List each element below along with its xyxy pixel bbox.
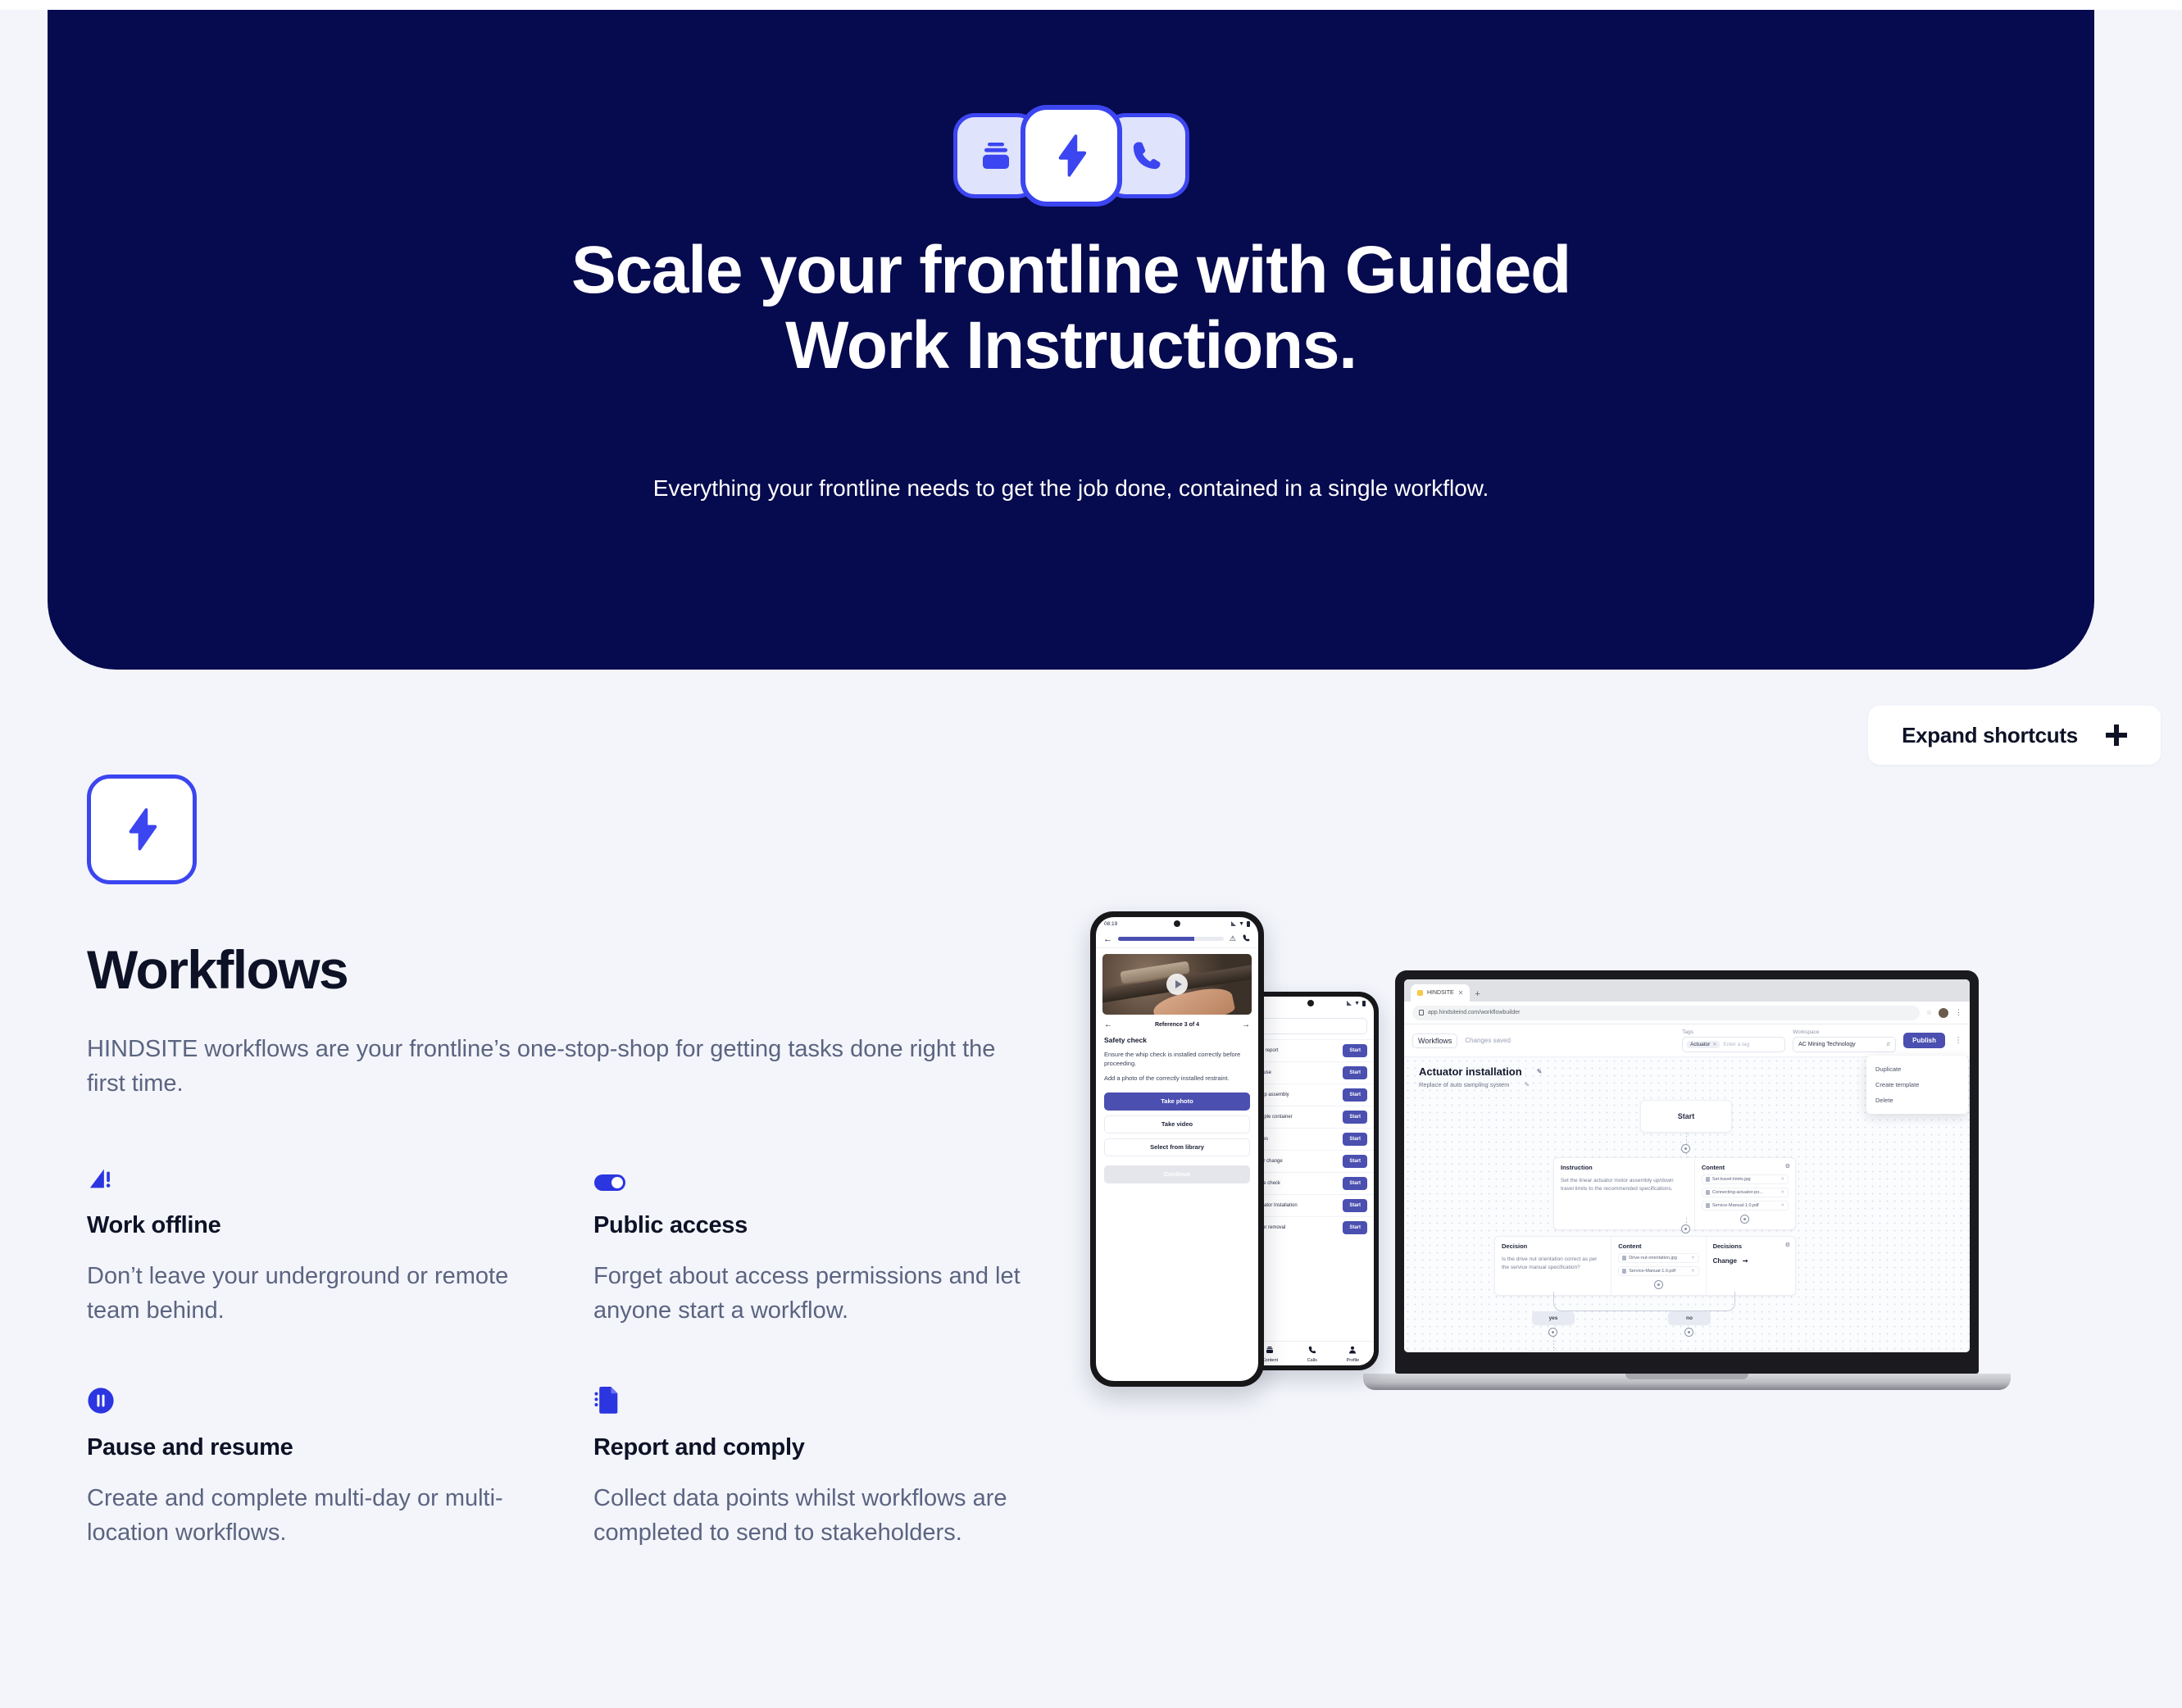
back-to-workflows-button[interactable]: Workflows [1412,1033,1457,1048]
tags-field: Tags Actuator ✕ Enter a tag [1682,1029,1785,1052]
branch-fork-lines [1553,1292,1735,1311]
plus-icon [2106,725,2127,746]
signal-icon [1347,1001,1352,1006]
image-file-icon [1706,1177,1710,1182]
section-description: HINDSITE workflows are your frontline’s … [87,1032,1021,1101]
lightning-bolt-icon [116,804,167,855]
select-from-library-button[interactable]: Select from library [1104,1138,1250,1156]
start-button[interactable]: Start [1343,1088,1367,1102]
browser-tab[interactable]: HINDSITE ✕ [1411,984,1470,1002]
node-column-body: Is the drive nut orientation correct as … [1502,1256,1604,1272]
node-column-header: Instruction [1561,1164,1688,1171]
kebab-menu-icon[interactable]: ⋮ [1955,1008,1962,1017]
url-text: app.hindsiteind.com/workflowbuilder [1428,1010,1520,1015]
close-icon[interactable]: ✕ [1780,1203,1784,1208]
workspace-select[interactable]: AC Mining Technology ⇵ [1793,1037,1896,1052]
new-tab-icon[interactable]: + [1475,989,1480,1002]
tags-label: Tags [1682,1029,1785,1035]
close-icon[interactable]: ✕ [1691,1269,1695,1274]
node-column-header: Content [1618,1242,1698,1250]
feature-report-and-comply: Report and comply Collect data points wh… [593,1379,1100,1550]
connector-handle[interactable] [1548,1328,1557,1337]
pdf-file-icon [1622,1269,1626,1274]
continue-button[interactable]: Continue [1104,1165,1250,1183]
lock-icon [1419,1010,1424,1015]
list-item[interactable]: Pump assembly Start [1248,1083,1374,1106]
page-root: Scale your frontline with Guided Work In… [0,10,2182,1708]
wifi-icon: ▼ [1354,1001,1360,1006]
tag-chip[interactable]: Actuator ✕ [1687,1041,1720,1048]
gear-icon[interactable]: ⚙ [1785,1242,1790,1248]
list-item[interactable]: Shift report Start [1248,1039,1374,1061]
star-icon[interactable]: ☆ [1926,1009,1932,1016]
expand-shortcuts-label: Expand shortcuts [1902,723,2078,748]
status-bar: ▼ [1248,997,1374,1010]
warning-triangle-icon[interactable]: ⚠ [1230,934,1236,943]
content-stack-icon [1265,1345,1275,1356]
list-item[interactable]: Valve check Start [1248,1172,1374,1194]
workflow-title-text: Actuator installation [1419,1065,1522,1078]
play-icon[interactable] [1166,974,1188,995]
list-item[interactable]: Motor removal Start [1248,1216,1374,1238]
node-action[interactable]: ⚙ Action Take a photo of the limits set … [1525,1351,1878,1352]
node-column-body: Set the linear actuator motor assembly u… [1561,1177,1688,1193]
edit-pencil-icon[interactable]: ✎ [1537,1068,1543,1075]
node-column-header: Decisions [1713,1242,1789,1250]
node-start[interactable]: Start [1640,1100,1732,1133]
feature-title: Work offline [87,1212,593,1239]
browser-addressbar: app.hindsiteind.com/workflowbuilder ☆ ⋮ [1404,1002,1970,1024]
decision-change-row[interactable]: Change ➞ [1713,1257,1789,1265]
battery-icon [1362,1001,1366,1006]
take-photo-button[interactable]: Take photo [1104,1092,1250,1111]
phone-call-icon[interactable] [1242,933,1251,944]
node-instruction[interactable]: ⚙ Instruction Set the linear actuator mo… [1553,1157,1796,1230]
feature-public-access: Public access Forget about access permis… [593,1156,1100,1328]
tab-profile[interactable]: Profile [1347,1345,1360,1363]
start-button[interactable]: Start [1343,1066,1367,1079]
connector-handle[interactable] [1681,1224,1690,1233]
lightning-bolt-icon [1021,105,1122,207]
laptop-base [1363,1374,2011,1390]
feature-pause-and-resume: Pause and resume Create and complete mul… [87,1379,593,1550]
close-icon[interactable]: ✕ [1780,1190,1784,1195]
tag-placeholder: Enter a tag [1723,1042,1749,1047]
tags-input[interactable]: Actuator ✕ Enter a tag [1682,1037,1785,1052]
list-item[interactable]: Sample container Start [1248,1106,1374,1128]
prev-arrow-icon[interactable]: ← [1104,1020,1112,1029]
start-button[interactable]: Start [1343,1044,1367,1057]
workflow-header: Actuator installation ✎ Replace of auto … [1419,1065,1542,1088]
start-button[interactable]: Start [1343,1221,1367,1234]
feature-description: Forget about access permissions and let … [593,1259,1052,1328]
branch-yes[interactable]: yes [1532,1311,1575,1325]
status-icons: ▼ [1231,921,1250,927]
report-document-icon [593,1379,1100,1415]
feature-work-offline: Work offline Don’t leave your undergroun… [87,1156,593,1328]
camera-punchhole-icon [1174,920,1180,927]
hero-title-line-2: Work Instructions. [785,308,1357,383]
progress-bar [1118,937,1224,941]
status-icons: ▼ [1347,1001,1366,1006]
reference-label: Reference 3 of 4 [1155,1022,1199,1028]
hero-subtitle: Everything your frontline needs to get t… [334,475,1809,502]
file-chip[interactable]: Service-Manual-1.0.pdf ✕ [1702,1201,1789,1211]
file-chip-label: Connecting-actuator-po... [1712,1190,1763,1195]
list-item[interactable]: Filter change Start [1248,1150,1374,1172]
next-arrow-icon[interactable]: → [1242,1020,1250,1029]
avatar[interactable] [1939,1008,1948,1018]
media-thumbnail[interactable] [1102,954,1252,1015]
gear-icon[interactable]: ⚙ [1785,1163,1790,1170]
file-chip[interactable]: Drive-nut-orientation.jpg ✕ [1618,1253,1698,1263]
file-chip-label: Drive-nut-orientation.jpg [1629,1256,1677,1261]
step-body: Safety check Ensure the whip check is in… [1096,1029,1258,1083]
step-text-1: Ensure the whip check is installed corre… [1104,1051,1250,1068]
browser-tab-title: HINDSITE [1427,990,1454,996]
file-chip-label: Service-Manual-1.0.pdf [1629,1269,1675,1274]
section-title: Workflows [87,938,1054,1001]
product-mockup: HINDSITE ✕ + app.hindsiteind.com/workflo… [1090,911,2057,1469]
feature-grid: Work offline Don’t leave your undergroun… [87,1156,1054,1550]
workspace-label: Workspace [1793,1029,1896,1035]
feature-description: Collect data points whilst workflows are… [593,1481,1052,1550]
pdf-file-icon [1706,1203,1710,1208]
list-item[interactable]: Hoses Start [1248,1128,1374,1150]
file-chip-label: Service-Manual-1.0.pdf [1712,1203,1759,1208]
laptop-mockup: HINDSITE ✕ + app.hindsiteind.com/workflo… [1395,970,1979,1390]
hero-banner: Scale your frontline with Guided Work In… [48,10,2094,670]
workflows-section: Workflows HINDSITE workflows are your fr… [87,775,1054,1550]
connector-line [1553,1337,1554,1351]
tab-label: Calls [1307,1358,1317,1363]
list-item[interactable]: Pre-use Start [1248,1061,1374,1083]
file-chip-label: Set-travel-limits.jpg [1712,1177,1751,1182]
close-icon[interactable]: ✕ [1691,1256,1695,1261]
workflow-subtitle-text: Replace of auto sampling system [1419,1081,1509,1088]
search-input[interactable] [1254,1018,1367,1034]
no-signal-icon [87,1156,593,1192]
hero-icon-cluster [953,107,1189,205]
chevron-updown-icon: ⇵ [1886,1042,1890,1047]
url-input[interactable]: app.hindsiteind.com/workflowbuilder [1412,1006,1920,1020]
tab-label: Profile [1347,1358,1360,1363]
reference-nav: ← Reference 3 of 4 → [1096,1015,1258,1029]
take-video-button[interactable]: Take video [1104,1115,1250,1133]
pause-circle-icon [87,1379,593,1415]
tag-chip-label: Actuator [1690,1042,1710,1047]
node-decision[interactable]: ⚙ Decision Is the drive nut orientation … [1494,1236,1796,1296]
laptop-screen: HINDSITE ✕ + app.hindsiteind.com/workflo… [1404,979,1970,1352]
menu-item-create-template[interactable]: Create template [1866,1077,1968,1092]
close-icon[interactable]: ✕ [1458,989,1464,997]
close-icon[interactable]: ✕ [1780,1177,1784,1182]
feature-title: Public access [593,1212,1100,1239]
step-text-2: Add a photo of the correctly installed r… [1104,1074,1250,1083]
profile-icon [1348,1345,1357,1356]
list-item[interactable]: Actuator Installation Start [1248,1194,1374,1216]
start-button[interactable]: Start [1343,1111,1367,1124]
image-file-icon [1706,1190,1710,1195]
kebab-menu-icon[interactable]: ⋮ [1954,1036,1962,1045]
connector-handle[interactable] [1684,1328,1693,1337]
laptop-lid: HINDSITE ✕ + app.hindsiteind.com/workflo… [1395,970,1979,1374]
workspace-field: Workspace AC Mining Technology ⇵ [1793,1029,1896,1052]
bottom-tabbar: Content Calls Profile [1248,1341,1374,1365]
tab-calls[interactable]: Calls [1307,1345,1317,1363]
signal-icon [1231,921,1236,926]
page-title: Scale your frontline with Guided Work In… [366,233,1776,384]
file-chip[interactable]: Set-travel-limits.jpg ✕ [1702,1174,1789,1184]
workflow-title: Actuator installation ✎ [1419,1065,1542,1078]
saved-status: Changes saved [1465,1037,1511,1044]
close-icon[interactable]: ✕ [1712,1042,1716,1047]
feature-description: Don’t leave your underground or remote t… [87,1259,546,1328]
phone-mockup-primary: 08:19 ▼ ← ⚠ [1090,911,1264,1387]
feature-title: Report and comply [593,1434,1100,1461]
start-button[interactable]: Start [1343,1155,1367,1168]
toggle-switch-icon [593,1156,1100,1192]
feature-description: Create and complete multi-day or multi-l… [87,1481,546,1550]
workspace-value: AC Mining Technology [1798,1042,1856,1047]
battery-icon [1247,921,1250,927]
phone-screen: 08:19 ▼ ← ⚠ [1096,917,1258,1381]
start-button[interactable]: Start [1343,1199,1367,1212]
connector-handle[interactable] [1681,1144,1690,1153]
menu-item-duplicate[interactable]: Duplicate [1866,1061,1968,1077]
decision-label: Change [1713,1257,1737,1265]
workflow-navbar: ← ⚠ [1096,930,1258,948]
node-column-header: Decision [1502,1242,1604,1250]
phone-call-icon [1307,1345,1317,1356]
phone-screen: ▼ Shift report Start Pre-use Start [1248,997,1374,1365]
status-bar: 08:19 ▼ [1096,917,1258,930]
start-button[interactable]: Start [1343,1177,1367,1190]
workflow-subtitle: Replace of auto sampling system ✎ [1419,1081,1542,1088]
feature-title: Pause and resume [87,1434,593,1461]
menu-item-delete[interactable]: Delete [1866,1092,1968,1108]
status-time: 08:19 [1104,921,1117,927]
browser-tabstrip: HINDSITE ✕ + [1404,979,1970,1002]
expand-shortcuts-button[interactable]: Expand shortcuts [1868,706,2161,765]
start-button[interactable]: Start [1343,1133,1367,1146]
wifi-icon: ▼ [1239,921,1244,927]
back-arrow-icon[interactable]: ← [1103,934,1112,944]
camera-punchhole-icon [1307,1000,1314,1006]
branch-no[interactable]: no [1668,1311,1711,1325]
edit-pencil-icon[interactable]: ✎ [1524,1081,1530,1088]
node-column-header: Content [1702,1164,1789,1171]
file-chip[interactable]: Connecting-actuator-po... ✕ [1702,1188,1789,1197]
hero-title-line-1: Scale your frontline with Guided [571,233,1571,307]
tab-content[interactable]: Content [1262,1345,1278,1363]
workflow-list: Shift report Start Pre-use Start Pump as… [1248,1039,1374,1238]
add-content-handle[interactable] [1740,1215,1749,1224]
add-content-handle[interactable] [1654,1280,1663,1289]
favicon [1417,990,1423,996]
image-file-icon [1622,1256,1626,1261]
arrow-right-icon: ➞ [1743,1257,1748,1265]
app-toolbar: Workflows Changes saved Tags Actuator ✕ … [1404,1024,1970,1057]
tab-label: Content [1262,1358,1278,1363]
publish-button[interactable]: Publish [1903,1033,1945,1048]
step-title: Safety check [1104,1036,1250,1044]
section-badge [87,775,197,884]
toolbar-dropdown-menu: Duplicate Create template Delete [1866,1056,1968,1114]
file-chip[interactable]: Service-Manual-1.0.pdf ✕ [1618,1266,1698,1276]
